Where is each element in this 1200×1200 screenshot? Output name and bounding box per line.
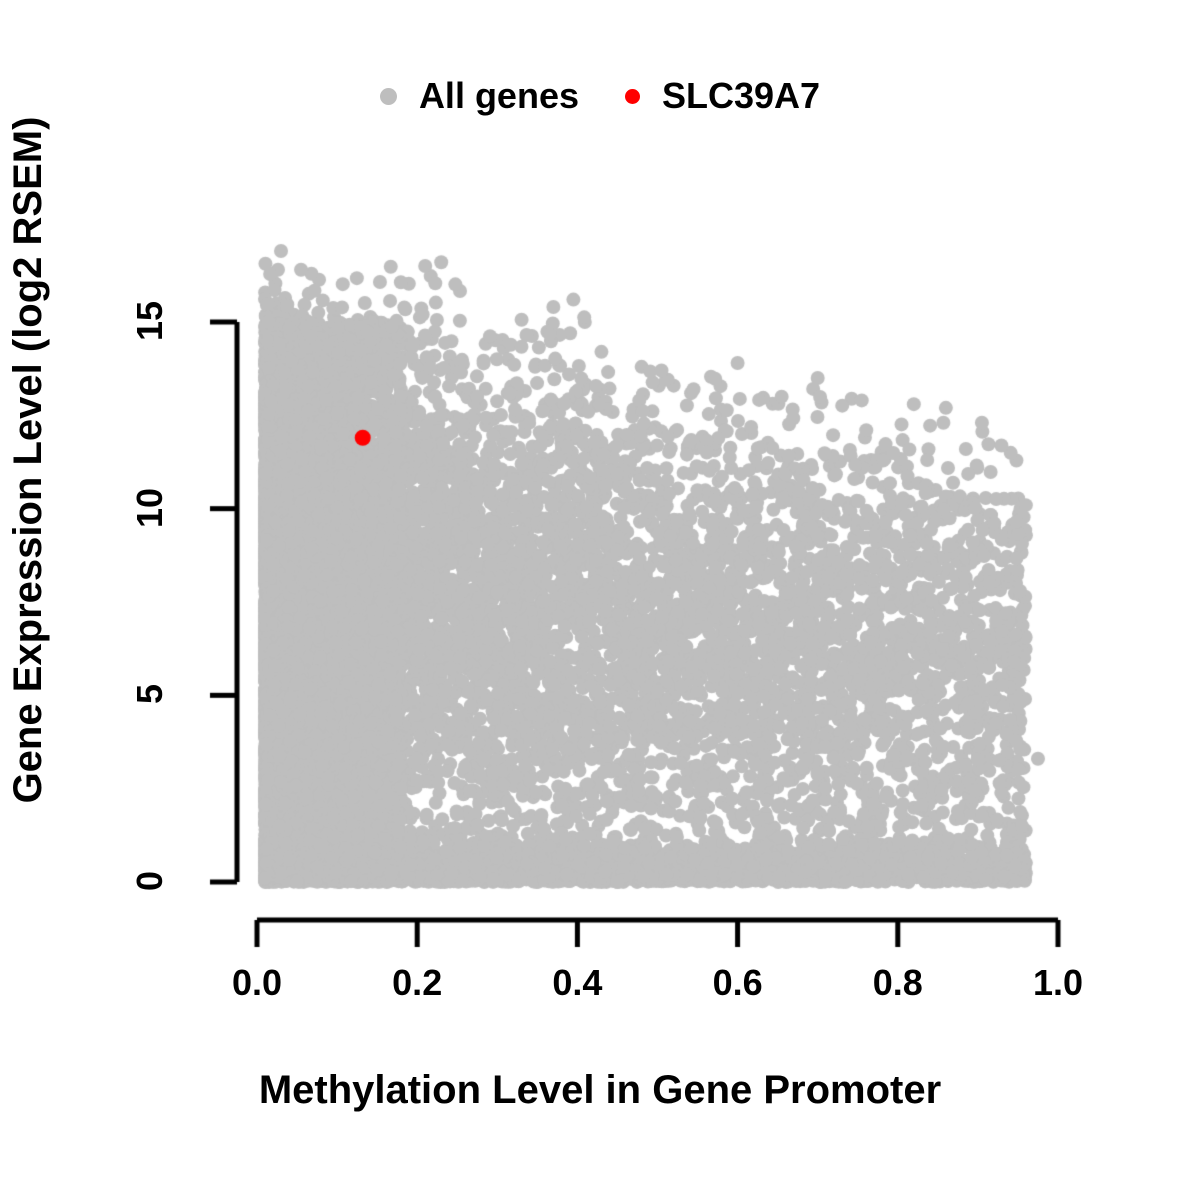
scatter-plot-canvas (0, 0, 1200, 1200)
x-tick-label-2: 0.4 (552, 962, 602, 1004)
legend-marker-red-dot-icon (625, 89, 640, 104)
y-tick-label-1: 5 (129, 664, 171, 724)
y-tick-label-0: 0 (129, 851, 171, 911)
x-tick-label-3: 0.6 (713, 962, 763, 1004)
legend-entry-all-genes: All genes (380, 78, 579, 114)
scatter-plot-figure: All genes SLC39A7 Methylation Level in G… (0, 0, 1200, 1200)
legend-label-slc39a7: SLC39A7 (662, 78, 820, 114)
chart-legend: All genes SLC39A7 (0, 78, 1200, 114)
y-tick-label-2: 10 (129, 478, 171, 538)
x-tick-label-1: 0.2 (392, 962, 442, 1004)
x-tick-label-4: 0.8 (873, 962, 923, 1004)
x-tick-label-0: 0.0 (232, 962, 282, 1004)
y-axis-title: Gene Expression Level (log2 RSEM) (0, 0, 60, 1060)
x-tick-label-5: 1.0 (1033, 962, 1083, 1004)
legend-marker-gray-dot-icon (380, 88, 397, 105)
y-tick-label-3: 15 (129, 291, 171, 351)
x-axis-title: Methylation Level in Gene Promoter (0, 1068, 1200, 1113)
legend-entry-slc39a7: SLC39A7 (625, 78, 820, 114)
legend-label-all-genes: All genes (419, 78, 579, 114)
